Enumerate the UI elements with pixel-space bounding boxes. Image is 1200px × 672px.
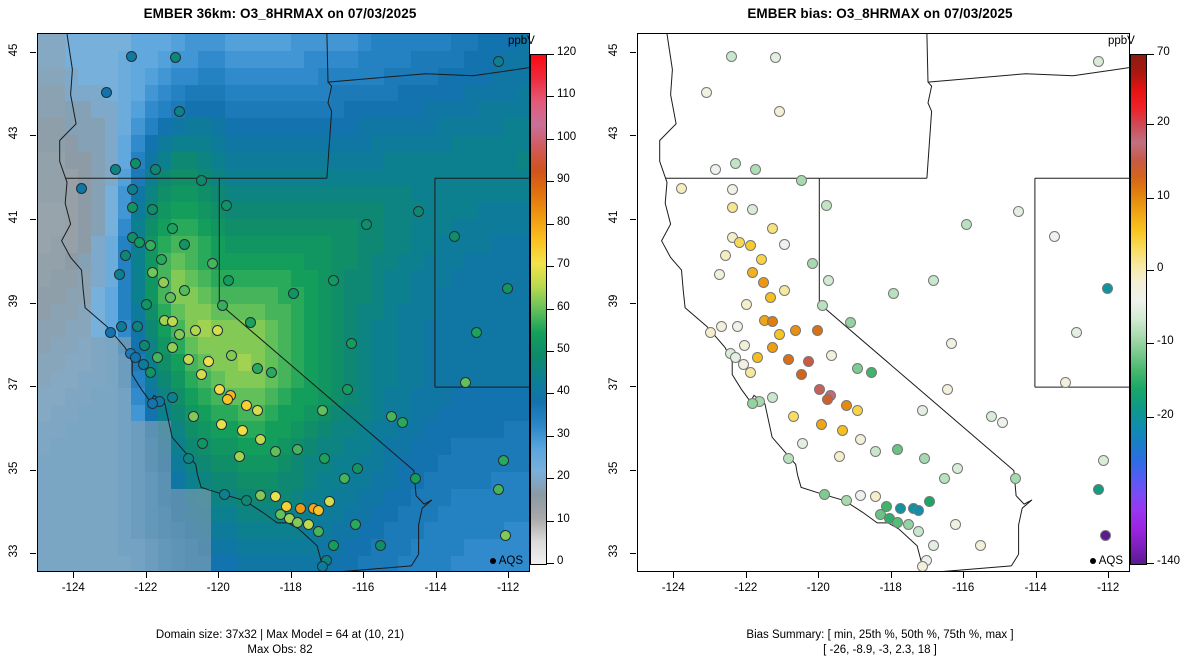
colorbar-label: 30: [557, 428, 570, 440]
colorbar-tick: [547, 54, 554, 55]
colorbar-tick: [1147, 417, 1154, 418]
colorbar-tick: [547, 309, 554, 310]
colorbar-tick: [547, 436, 554, 437]
colorbar-label: 110: [557, 88, 575, 100]
colorbar-tick: [547, 266, 554, 267]
colorbar-label: 40: [557, 385, 570, 397]
bias-colorbar-gradient: [1130, 54, 1147, 565]
colorbar-label: 90: [557, 173, 570, 185]
colorbar-label: 70: [1157, 46, 1170, 58]
colorbar-tick: [547, 521, 554, 522]
colorbar-tick: [547, 224, 554, 225]
colorbar-tick: [1147, 198, 1154, 199]
colorbar-tick: [1147, 563, 1154, 564]
model-colorbar-units: ppbV: [508, 35, 535, 47]
model-panel: EMBER 36km: O3_8HRMAX on 07/03/2025 AQS …: [0, 0, 600, 672]
colorbar-tick: [1147, 270, 1154, 271]
colorbar-label: 50: [557, 343, 570, 355]
colorbar-tick: [1147, 343, 1154, 344]
colorbar-label: 100: [557, 131, 576, 143]
model-footer-line2: Max Obs: 82: [0, 643, 560, 658]
bias-panel: EMBER bias: O3_8HRMAX on 07/03/2025 AQS …: [600, 0, 1200, 672]
model-footer-line1: Domain size: 37x32 | Max Model = 64 at (…: [0, 628, 560, 643]
colorbar-label: 10: [1157, 190, 1170, 202]
model-colorbar-gradient: [530, 54, 547, 565]
bias-footer-line2: [ -26, -8.9, -3, 2.3, 18 ]: [600, 643, 1160, 658]
colorbar-tick: [547, 563, 554, 564]
colorbar-label: 60: [557, 301, 570, 313]
colorbar-label: 20: [1157, 116, 1170, 128]
colorbar-tick: [1147, 124, 1154, 125]
colorbar-label: 20: [557, 470, 570, 482]
colorbar-label: 0: [557, 555, 563, 567]
colorbar-tick: [547, 181, 554, 182]
bias-footer-line1: Bias Summary: [ min, 25th %, 50th %, 75t…: [600, 628, 1160, 643]
bias-colorbar-units: ppbV: [1108, 35, 1135, 47]
bias-colorbar: ppbV -140-20-100102070: [600, 0, 1200, 672]
colorbar-label: -20: [1157, 409, 1174, 421]
colorbar-label: -140: [1157, 555, 1180, 567]
colorbar-label: 80: [557, 216, 570, 228]
model-colorbar: ppbV 0102030405060708090100110120: [0, 0, 600, 672]
colorbar-tick: [547, 393, 554, 394]
colorbar-label: 0: [1157, 262, 1163, 274]
colorbar-tick: [1147, 54, 1154, 55]
colorbar-tick: [547, 478, 554, 479]
bias-footer: Bias Summary: [ min, 25th %, 50th %, 75t…: [600, 628, 1160, 658]
colorbar-label: 10: [557, 513, 570, 525]
model-footer: Domain size: 37x32 | Max Model = 64 at (…: [0, 628, 560, 658]
colorbar-tick: [547, 139, 554, 140]
colorbar-label: 120: [557, 46, 576, 58]
colorbar-tick: [547, 351, 554, 352]
colorbar-tick: [547, 96, 554, 97]
colorbar-label: -10: [1157, 335, 1174, 347]
colorbar-label: 70: [557, 258, 570, 270]
